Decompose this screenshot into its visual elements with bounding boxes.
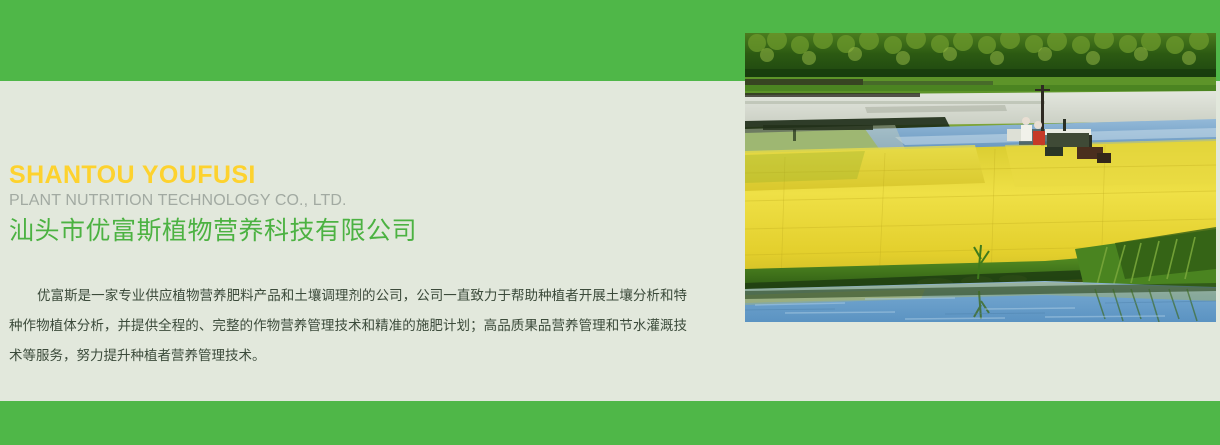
company-intro-paragraph: 优富斯是一家专业供应植物营养肥料产品和土壤调理剂的公司，公司一直致力于帮助种植者…	[0, 247, 700, 371]
company-intro-block: SHANTOU YOUFUSI PLANT NUTRITION TECHNOLO…	[0, 160, 720, 371]
page-root: SHANTOU YOUFUSI PLANT NUTRITION TECHNOLO…	[0, 0, 1220, 445]
company-name-english: SHANTOU YOUFUSI	[0, 160, 720, 190]
rice-field-pond-photo	[745, 33, 1216, 322]
rice-field-pond-illustration	[745, 33, 1216, 322]
bottom-green-band	[0, 401, 1220, 445]
company-name-chinese: 汕头市优富斯植物营养科技有限公司	[0, 210, 720, 247]
company-subtitle-english: PLANT NUTRITION TECHNOLOGY CO., LTD.	[0, 190, 720, 210]
